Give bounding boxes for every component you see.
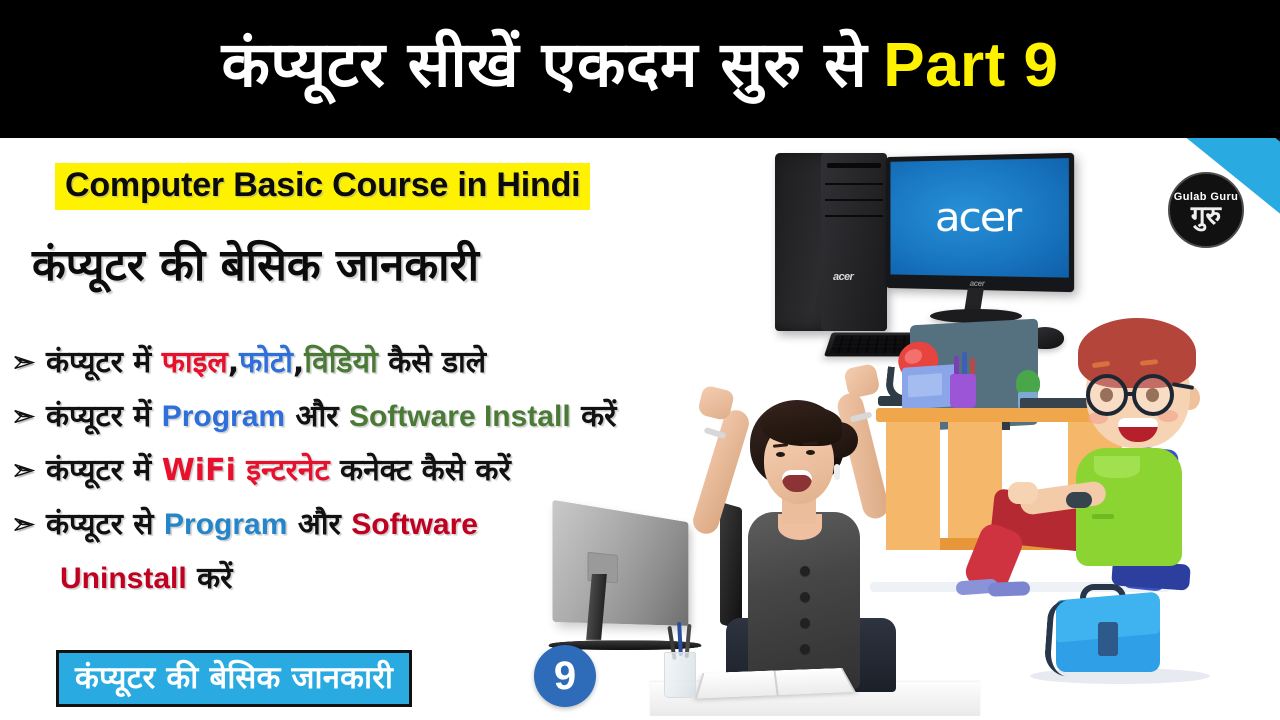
logo-name-hindi: गुरु [1191, 204, 1221, 229]
course-subtitle: कंप्यूटर की बेसिक जानकारी [32, 233, 479, 293]
dress-button [800, 618, 810, 628]
title-bar: कंप्यूटर सीखें एकदम सुरु से Part 9 [0, 0, 1280, 138]
monitor-screen: acer [890, 158, 1068, 278]
list-item: ➢ कंप्यूटर में WiFi इन्टरनेट कनेक्ट कैसे… [10, 448, 710, 502]
tower-vent-slot [825, 183, 883, 185]
clenched-fist-right [843, 363, 881, 399]
bottom-edge [0, 716, 1280, 720]
text-run: कंप्यूटर से [46, 507, 164, 542]
cartoon-mouse [1066, 492, 1092, 508]
tower-vent-slot [825, 215, 883, 217]
list-item-text: कंप्यूटर में फाइल,फोटो,विडियो कैसे डाले [46, 340, 486, 386]
list-item: ➢ कंप्यूटर में फाइल,फोटो,विडियो कैसे डाल… [10, 340, 710, 394]
text-run: Software Install [349, 400, 571, 433]
list-item-continuation: Uninstall करें [10, 556, 710, 614]
text-run: Uninstall [60, 562, 187, 595]
channel-logo-badge: Gulab Guru गुरु [1168, 172, 1244, 248]
part-label: Part 9 [883, 35, 1058, 97]
list-item: ➢ कंप्यूटर में Program और Software Insta… [10, 394, 710, 448]
notebook [902, 364, 956, 410]
text-run: कनेक्ट कैसे करें [330, 453, 511, 488]
course-banner-label: Computer Basic Course in Hindi [65, 166, 580, 204]
eyeglasses-lens-right [1132, 374, 1174, 416]
pc-monitor: acer acer [886, 153, 1074, 292]
text-run: Software [351, 508, 478, 541]
shirt-pocket [1092, 514, 1114, 519]
text-run: Program [162, 400, 285, 433]
list-item-text: कंप्यूटर से Program और Software [46, 502, 478, 548]
text-run: फाइल [162, 345, 228, 380]
episode-number: 9 [554, 656, 576, 696]
earring [834, 464, 840, 480]
eye-left [776, 452, 785, 457]
tower-vent-slot [825, 199, 883, 201]
text-run: कंप्यूटर में [46, 399, 162, 434]
teeth [1118, 418, 1158, 427]
boy-hand [1008, 482, 1038, 504]
text-run: विडियो [304, 345, 377, 380]
eyeglasses-lens-left [1086, 374, 1128, 416]
youtube-thumbnail: कंप्यूटर सीखें एकदम सुरु से Part 9 Gulab… [0, 0, 1280, 720]
backpack-buckle [1098, 622, 1118, 656]
eye-right [806, 450, 815, 455]
text-run: कंप्यूटर में [46, 345, 162, 380]
tower-drive-bay [827, 163, 881, 168]
list-item-text: कंप्यूटर में Program और Software Install… [46, 394, 616, 440]
dress-button [800, 566, 810, 576]
text-run: और [285, 399, 349, 434]
text-run: कैसे डाले [378, 345, 486, 380]
eyeglasses-bridge [1126, 392, 1136, 396]
footer-banner-label: कंप्यूटर की बेसिक जानकारी [75, 660, 393, 696]
pen-holder-cup [664, 652, 696, 698]
list-item: ➢ कंप्यूटर से Program और Software [10, 502, 710, 556]
title-hindi: कंप्यूटर सीखें एकदम सुरु से [221, 33, 867, 96]
text-run: और [287, 507, 351, 542]
pc-tower: acer [775, 153, 887, 331]
list-item-text: कंप्यूटर में WiFi इन्टरनेट कनेक्ट कैसे क… [46, 448, 511, 494]
arrow-bullet-icon: ➢ [10, 502, 36, 548]
text-run: फोटो [239, 345, 293, 380]
topic-list: ➢ कंप्यूटर में फाइल,फोटो,विडियो कैसे डाल… [10, 340, 710, 614]
course-banner: Computer Basic Course in Hindi [55, 163, 590, 210]
pen-cup [950, 374, 976, 408]
text-run: कंप्यूटर में [46, 453, 162, 488]
text-run: , [293, 345, 304, 380]
cartoon-boy-at-desk [880, 300, 1280, 720]
tower-brand-logo: acer [833, 271, 853, 283]
acer-screen-logo: acer [935, 195, 1020, 242]
text-run: करें [187, 561, 233, 596]
text-run: करें [571, 399, 617, 434]
dress-button [800, 644, 810, 654]
episode-number-badge: 9 [534, 645, 596, 707]
boy-shoe [988, 581, 1030, 596]
boy-green-shirt [1076, 448, 1182, 566]
arrow-bullet-icon: ➢ [10, 448, 36, 494]
list-item-text: Uninstall करें [60, 556, 232, 602]
footer-banner: कंप्यूटर की बेसिक जानकारी [56, 650, 412, 707]
arrow-bullet-icon: ➢ [10, 340, 36, 386]
text-run: Program [164, 508, 287, 541]
arrow-bullet-icon: ➢ [10, 394, 36, 440]
monitor-bezel-logo: acer [970, 279, 985, 288]
text-run: , [228, 345, 239, 380]
backpack-strap [1043, 599, 1078, 677]
text-run: WiFi इन्टरनेट [162, 453, 330, 488]
desk-panel [886, 422, 940, 550]
dress-button [800, 592, 810, 602]
